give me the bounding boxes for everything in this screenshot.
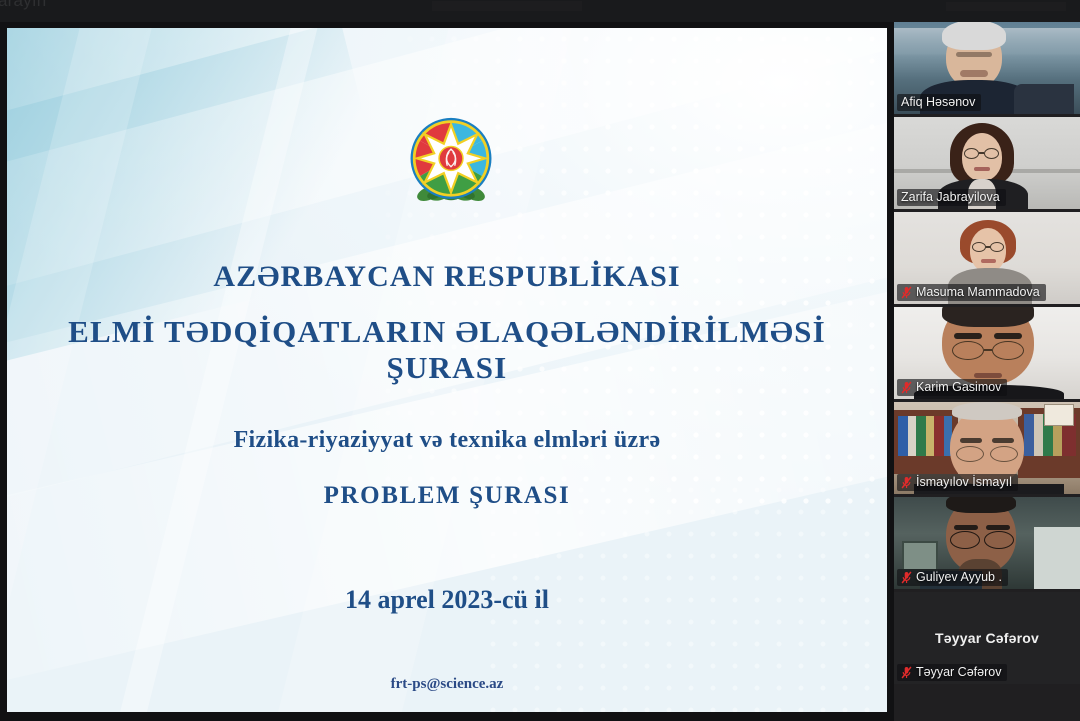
top-strip-decoration-middle (432, 1, 582, 11)
participant-name: İsmayılov İsmayıl (916, 475, 1012, 489)
mic-muted-icon (901, 286, 912, 299)
slide-subtitle-line1: Fizika-riyaziyyat və texnika elmləri üzr… (7, 427, 887, 454)
slide-title-line2: ELMİ TƏDQİQATLARIN ƏLAQƏLƏNDİRİLMƏSİ ŞUR… (7, 314, 887, 386)
mic-muted-icon (901, 571, 912, 584)
participant-name-chip: Zarifa Jabrayilova (897, 189, 1006, 206)
participant-name: Guliyev Ayyub . (916, 570, 1002, 584)
participant-tile[interactable]: Afiq Həsənov (894, 22, 1080, 114)
participant-tile[interactable]: Təyyar Cəfərov Təyyar Cəfərov (894, 592, 1080, 684)
slide-subtitle-line2: PROBLEM ŞURASI (7, 482, 887, 510)
participant-tile[interactable]: Karim Gasimov (894, 307, 1080, 399)
slide-date: 14 aprel 2023-cü il (7, 585, 887, 615)
participant-name-chip: Guliyev Ayyub . (897, 569, 1008, 586)
clipped-toolbar-text: arayın (0, 0, 46, 11)
azerbaijan-state-emblem-icon (405, 114, 497, 212)
mic-muted-icon (901, 381, 912, 394)
top-strip-decoration-right (946, 2, 1066, 11)
mic-muted-icon (901, 476, 912, 489)
presentation-slide: AZƏRBAYCAN RESPUBLİKASI ELMİ TƏDQİQATLAR… (7, 28, 887, 712)
slide-title-line1: AZƏRBAYCAN RESPUBLİKASI (7, 260, 887, 294)
participant-name-chip: Afiq Həsənov (897, 94, 981, 111)
participant-name-chip: İsmayılov İsmayıl (897, 474, 1018, 491)
participants-rail[interactable]: Afiq Həsənov Zarifa Jabrayilova (894, 22, 1080, 721)
participant-avatar-label: Təyyar Cəfərov (935, 630, 1039, 646)
participant-name-chip: Karim Gasimov (897, 379, 1007, 396)
participant-name-chip: Təyyar Cəfərov (897, 664, 1007, 681)
meeting-window: arayın (0, 0, 1080, 721)
participant-tile[interactable]: İsmayılov İsmayıl (894, 402, 1080, 494)
participant-tile[interactable]: Zarifa Jabrayilova (894, 117, 1080, 209)
participant-name: Karim Gasimov (916, 380, 1001, 394)
participant-name: Masuma Mammadova (916, 285, 1040, 299)
participant-tile[interactable]: Masuma Mammadova (894, 212, 1080, 304)
participant-name: Zarifa Jabrayilova (901, 190, 1000, 204)
slide-email: frt-ps@science.az (7, 676, 887, 693)
participant-name-chip: Masuma Mammadova (897, 284, 1046, 301)
participant-name: Afiq Həsənov (901, 95, 975, 109)
mic-muted-icon (901, 666, 912, 679)
shared-screen-area[interactable]: AZƏRBAYCAN RESPUBLİKASI ELMİ TƏDQİQATLAR… (0, 22, 894, 721)
participant-tile[interactable]: Guliyev Ayyub . (894, 497, 1080, 589)
window-top-strip: arayın (0, 0, 1080, 22)
slide-content: AZƏRBAYCAN RESPUBLİKASI ELMİ TƏDQİQATLAR… (7, 28, 887, 712)
participant-name: Təyyar Cəfərov (916, 665, 1001, 679)
